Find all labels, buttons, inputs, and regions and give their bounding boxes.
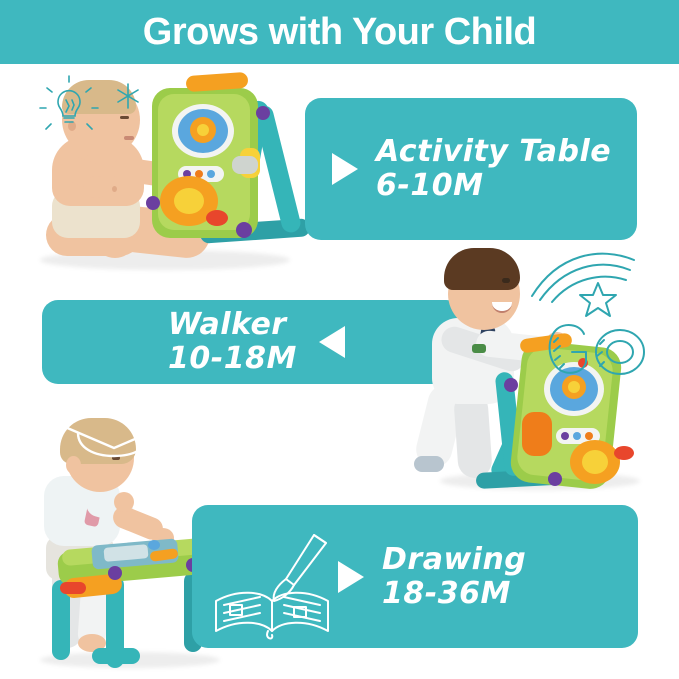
lightbulb-doodle	[38, 74, 100, 132]
toy-knob-left	[146, 196, 160, 210]
stage-label-activity: Activity Table 6-10M	[376, 135, 611, 202]
walker-gear-knob	[614, 446, 634, 460]
toddler-sleeve-patch	[472, 344, 486, 353]
toy-spinner-dot	[197, 124, 209, 136]
walker-knob-b	[548, 472, 562, 486]
toy-frame-front-leg	[253, 104, 303, 235]
toy-rollers	[232, 156, 258, 174]
stage-name-walker: Walker	[168, 307, 287, 342]
toddler-eye	[502, 278, 510, 283]
toy-button-c	[207, 170, 215, 178]
stage-age-activity: 6-10M	[376, 169, 611, 203]
toddler-leg-front	[453, 391, 493, 479]
page-title: Grows with Your Child	[143, 13, 536, 51]
panel-activity-table-content: Activity Table 6-10M	[332, 98, 632, 240]
table-foot	[92, 648, 140, 664]
toy-knob-top	[256, 106, 270, 120]
thought-bubble-shapes-doodle	[136, 444, 222, 514]
photo-walker	[380, 232, 679, 502]
walker-button-c	[585, 432, 593, 440]
header-banner: Grows with Your Child	[0, 0, 679, 64]
go-text-doodle	[542, 318, 654, 384]
baby-mouth	[124, 136, 134, 140]
stage-name-activity: Activity Table	[376, 134, 611, 169]
walker-steering-hub	[582, 450, 608, 474]
table-shelf-accent	[60, 582, 86, 594]
toy-knob-joint	[236, 222, 252, 238]
drawing-hand-other	[114, 492, 134, 512]
panel-drawing-content: Drawing 18-36M	[338, 505, 628, 648]
table-stylus-tip	[148, 540, 160, 550]
toy-gear-knob	[206, 210, 228, 226]
stage-name-drawing: Drawing	[382, 542, 526, 577]
photo-activity-table	[0, 64, 330, 284]
stage-age-drawing: 18-36M	[382, 577, 526, 611]
walker-side-block	[522, 412, 552, 456]
walker-button-b	[573, 432, 581, 440]
stage-label-drawing: Drawing 18-36M	[382, 543, 526, 610]
baby-eye	[120, 116, 129, 119]
stage-age-walker: 10-18M	[168, 342, 297, 376]
walker-button-a	[561, 432, 569, 440]
star-outline-doodle-walker	[578, 280, 618, 320]
stage-label-walker: Walker 10-18M	[168, 308, 297, 375]
infographic-page: Grows with Your Child	[0, 0, 679, 679]
toy-steering-hub	[174, 188, 204, 214]
open-book-pen-doodle	[202, 527, 342, 647]
table-knob-a	[108, 566, 122, 580]
arrow-right-icon-drawing	[338, 561, 364, 593]
walker-knob-a	[504, 378, 518, 392]
arrow-right-icon-activity	[332, 153, 358, 185]
baby-hand-left	[84, 176, 108, 198]
panel-walker-content: Walker 10-18M	[168, 300, 408, 384]
toddler-shoe	[414, 456, 444, 472]
toddler-hair	[444, 248, 520, 290]
baby-navel	[112, 186, 117, 192]
arrow-left-icon-walker	[319, 326, 345, 358]
sparkle-doodle	[115, 82, 141, 110]
